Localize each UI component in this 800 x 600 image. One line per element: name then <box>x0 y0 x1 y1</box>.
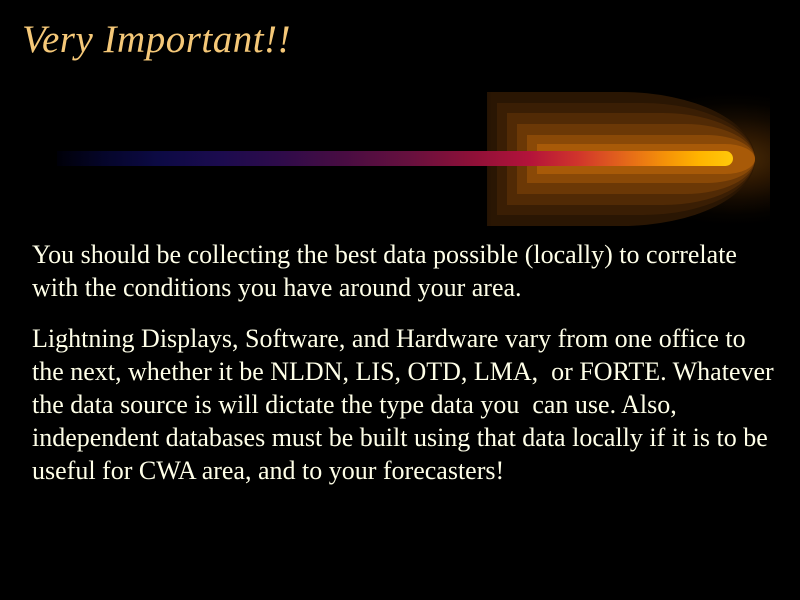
comet-glow-band-4 <box>517 124 755 194</box>
comet-glow-feather <box>470 84 770 234</box>
comet-glow-band-3 <box>507 113 755 205</box>
body-paragraph-2: Lightning Displays, Software, and Hardwa… <box>32 322 780 487</box>
comet-gradient-divider <box>0 88 800 230</box>
comet-glow-band-1 <box>487 92 755 226</box>
page-title: Very Important!! <box>22 18 291 63</box>
comet-core-bar <box>57 151 733 166</box>
comet-glow-band-6 <box>537 144 755 174</box>
comet-glow-left-mask <box>0 88 492 230</box>
presentation-slide: Very Important!! You should be collectin… <box>0 0 800 600</box>
slide-body: You should be collecting the best data p… <box>32 238 780 487</box>
comet-glow-band-2 <box>497 103 755 215</box>
body-paragraph-1: You should be collecting the best data p… <box>32 238 780 304</box>
comet-glow-band-5 <box>527 135 755 183</box>
